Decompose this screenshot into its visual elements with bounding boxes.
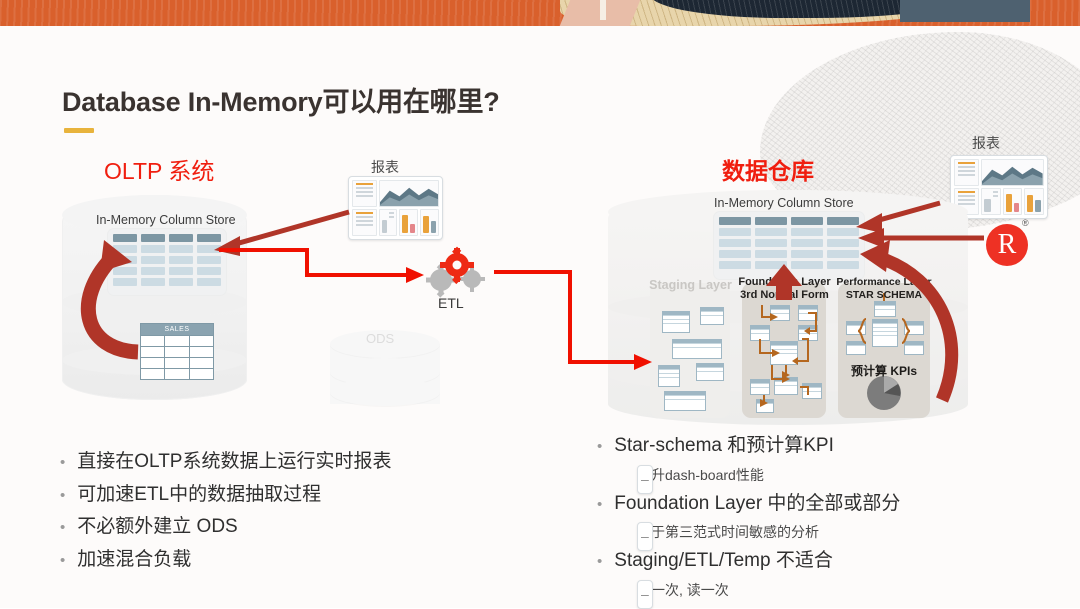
etl-label: ETL: [438, 295, 464, 311]
sales-table: SALES: [140, 323, 214, 380]
left-report-icon: [348, 176, 443, 240]
sub-bullet-dash-icon: –: [637, 465, 653, 494]
report-table-cell: [954, 159, 979, 186]
performance-layer-title: Performance Layer STAR SCHEMA: [832, 276, 936, 301]
bullet-dot-icon: •: [597, 439, 602, 454]
sales-table-header: SALES: [141, 324, 213, 335]
sub-bullet-text: 提升dash-board性能: [637, 465, 764, 486]
bullet-text: 直接在OLTP系统数据上运行实时报表: [77, 448, 391, 476]
list-item: • Foundation Layer 中的全部或部分: [597, 490, 900, 518]
performance-layer-panel: [838, 283, 930, 418]
kpi-label: 预计算 KPIs: [838, 362, 930, 379]
bullet-text: 可加速ETL中的数据抽取过程: [77, 481, 321, 509]
report-bar-cell-2: [1003, 188, 1023, 215]
bullet-dot-icon: •: [60, 488, 65, 503]
report-bar-cell-3: [1024, 188, 1044, 215]
performance-layer-subtitle: STAR SCHEMA: [846, 289, 922, 301]
right-bullet-list: • Star-schema 和预计算KPI – 提升dash-board性能 •…: [597, 432, 900, 605]
report-bar-cell-1: [981, 188, 1001, 215]
sub-bullet-dash-icon: –: [637, 522, 653, 551]
etl-gears-icon: [424, 252, 488, 296]
foundation-layer-title: Foundation Layer 3rd Normal Form: [736, 276, 833, 302]
staging-layer-title: Staging Layer: [643, 278, 738, 292]
list-item: • 直接在OLTP系统数据上运行实时报表: [60, 448, 391, 476]
bullet-dot-icon: •: [60, 520, 65, 535]
performance-layer-name: Performance Layer: [836, 276, 931, 288]
list-item: • 加速混合负载: [60, 546, 391, 574]
sub-bullet-dash-icon: –: [637, 580, 653, 609]
sub-bullet-text: 基于第三范式时间敏感的分析: [637, 522, 819, 543]
page-title: Database In-Memory可以用在哪里?: [62, 80, 500, 119]
registered-mark-icon: ®: [1022, 218, 1029, 228]
oracle-r-logo: R: [986, 224, 1028, 266]
bullet-dot-icon: •: [597, 497, 602, 512]
foundation-layer-subtitle: 3rd Normal Form: [740, 289, 829, 301]
oltp-heading: OLTP 系统: [104, 152, 214, 186]
bullet-text: Star-schema 和预计算KPI: [614, 432, 834, 460]
report-area-chart-cell: [379, 180, 439, 207]
ods-label: ODS: [366, 331, 394, 346]
oltp-column-store-label: In-Memory Column Store: [96, 213, 236, 227]
report-area-chart-cell: [981, 159, 1044, 186]
list-item: • 可加速ETL中的数据抽取过程: [60, 481, 391, 509]
title-accent-dash: [64, 128, 94, 133]
list-item: • 不必额外建立 ODS: [60, 513, 391, 541]
bullet-text: Staging/ETL/Temp 不适合: [614, 547, 833, 575]
bullet-text: 加速混合负载: [77, 546, 191, 574]
banner-white-sliver: [600, 0, 606, 20]
bullet-dot-icon: •: [597, 554, 602, 569]
sub-list-item: – 基于第三范式时间敏感的分析: [637, 522, 900, 543]
decorative-top-banner: [0, 0, 1080, 26]
staging-layer-panel: [650, 283, 730, 418]
sub-list-item: – 写一次, 读一次: [637, 580, 900, 601]
report-bar-cell-1: [379, 209, 398, 236]
banner-slate-shape: [900, 0, 1030, 22]
bullet-text: Foundation Layer 中的全部或部分: [614, 490, 900, 518]
list-item: • Staging/ETL/Temp 不适合: [597, 547, 900, 575]
right-report-label: 报表: [972, 133, 1000, 153]
left-report-label: 报表: [371, 157, 399, 177]
bullet-dot-icon: •: [60, 553, 65, 568]
dwh-heading: 数据仓库: [722, 152, 814, 186]
report-table-cell-2: [352, 209, 377, 236]
bullet-dot-icon: •: [60, 455, 65, 470]
bullet-text: 不必额外建立 ODS: [77, 513, 237, 541]
oltp-column-store: [107, 228, 227, 296]
report-bar-cell-2: [399, 209, 418, 236]
left-bullet-list: • 直接在OLTP系统数据上运行实时报表 • 可加速ETL中的数据抽取过程 • …: [60, 448, 391, 578]
report-table-cell: [352, 180, 377, 207]
foundation-layer-name: Foundation Layer: [738, 276, 830, 288]
foundation-layer-panel: [742, 283, 826, 418]
dwh-column-store: [713, 211, 865, 280]
sub-list-item: – 提升dash-board性能: [637, 465, 900, 486]
report-bar-cell-3: [420, 209, 439, 236]
list-item: • Star-schema 和预计算KPI: [597, 432, 900, 460]
dwh-column-store-label: In-Memory Column Store: [714, 196, 854, 210]
